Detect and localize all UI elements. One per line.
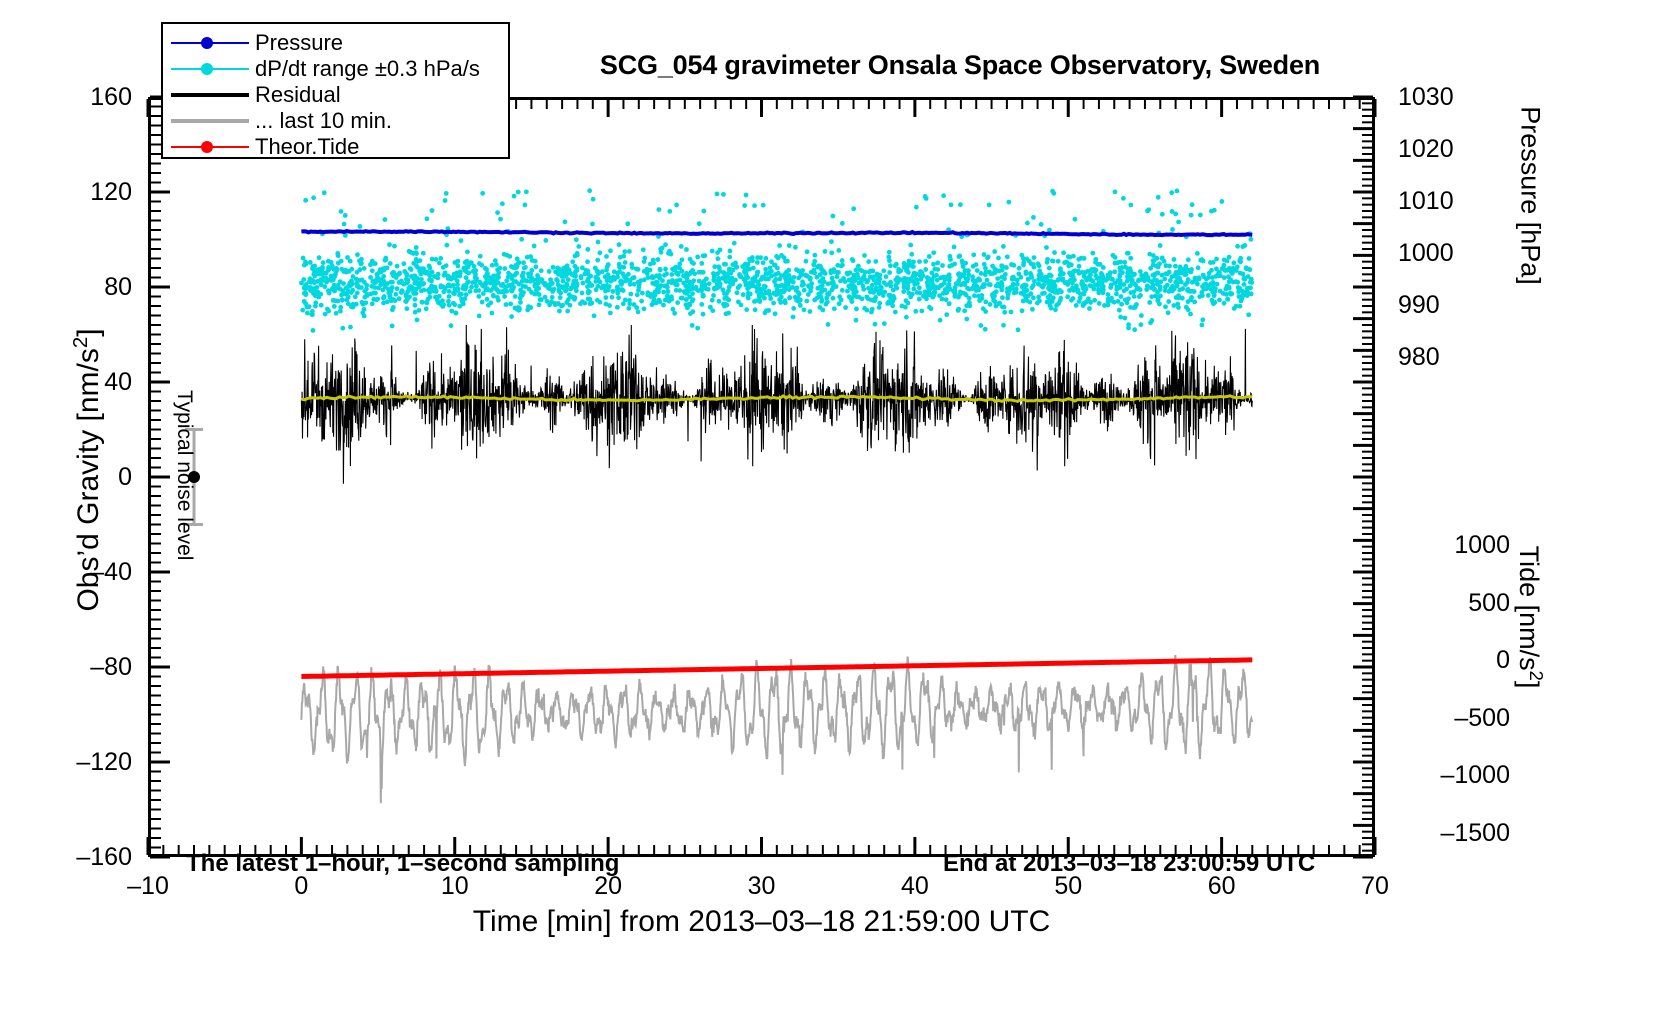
legend-label-dpdt: dP/dt range ±0.3 hPa/s — [255, 58, 480, 80]
legend-item-last10[interactable]: ... last 10 min. — [163, 108, 508, 133]
annotation-noise-level: Typical noise level — [172, 390, 196, 620]
y-tick-label-tide: –1000 — [1398, 761, 1510, 790]
x-tick-label: –10 — [98, 872, 198, 901]
legend-swatch-last10 — [163, 111, 255, 131]
y-tick-label-left: 160 — [12, 83, 132, 112]
y-tick-label-left: –80 — [12, 653, 132, 682]
series-dpdt-scatter — [299, 188, 1254, 333]
x-axis-title: Time [min] from 2013–03–18 21:59:00 UTC — [148, 905, 1375, 939]
page-title: SCG_054 gravimeter Onsala Space Observat… — [430, 50, 1490, 81]
y-tick-label-tide: 1000 — [1398, 531, 1510, 560]
y-tick-label-pressure: 1030 — [1398, 83, 1498, 112]
y-tick-label-left: –160 — [12, 843, 132, 872]
chart-canvas: SCG_054 gravimeter Onsala Space Observat… — [0, 0, 1660, 1020]
legend-swatch-dpdt — [163, 59, 255, 79]
y-tick-label-left: 120 — [12, 178, 132, 207]
legend-swatch-residual — [163, 85, 255, 105]
series-residual — [301, 325, 1252, 484]
series-pressure — [301, 231, 1252, 235]
y-tick-label-pressure: 1010 — [1398, 187, 1498, 216]
legend-label-pressure: Pressure — [255, 32, 343, 54]
legend-swatch-pressure — [163, 33, 255, 53]
legend-item-dpdt[interactable]: dP/dt range ±0.3 hPa/s — [163, 56, 508, 81]
y-axis-title-pressure: Pressure [hPa] — [1515, 0, 1546, 406]
y-tick-label-tide: 0 — [1398, 646, 1510, 675]
legend-label-last10: ... last 10 min. — [255, 110, 392, 132]
y-tick-label-left: 80 — [12, 273, 132, 302]
legend-item-pressure[interactable]: Pressure — [163, 30, 508, 55]
plot-data-layer — [148, 97, 1375, 857]
annotation-sampling: The latest 1–hour, 1–second sampling — [186, 850, 619, 878]
legend-item-tide[interactable]: Theor.Tide — [163, 134, 508, 159]
y-tick-label-left: –120 — [12, 748, 132, 777]
legend-item-residual[interactable]: Residual — [163, 82, 508, 107]
y-tick-label-tide: 500 — [1398, 589, 1510, 618]
y-tick-label-tide: –1500 — [1398, 819, 1510, 848]
annotation-end-time: End at 2013–03–18 23:00:59 UTC — [943, 850, 1315, 878]
y-tick-label-left: 40 — [12, 368, 132, 397]
legend-label-tide: Theor.Tide — [255, 136, 359, 158]
x-tick-label: 30 — [712, 872, 812, 901]
series-last-10-min — [301, 655, 1252, 803]
legend: Pressure dP/dt range ±0.3 hPa/s Residual… — [161, 22, 510, 159]
y-tick-label-left: 0 — [12, 463, 132, 492]
y-tick-label-tide: –500 — [1398, 704, 1510, 733]
legend-label-residual: Residual — [255, 84, 341, 106]
x-tick-label: 70 — [1325, 872, 1425, 901]
y-tick-label-pressure: 1020 — [1398, 135, 1498, 164]
y-tick-label-left: –40 — [12, 558, 132, 587]
y-tick-label-pressure: 980 — [1398, 343, 1498, 372]
y-tick-label-pressure: 1000 — [1398, 239, 1498, 268]
y-axis-title-tide: Tide [nm/s2] — [1513, 427, 1547, 807]
y-tick-label-pressure: 990 — [1398, 291, 1498, 320]
legend-swatch-tide — [163, 137, 255, 157]
